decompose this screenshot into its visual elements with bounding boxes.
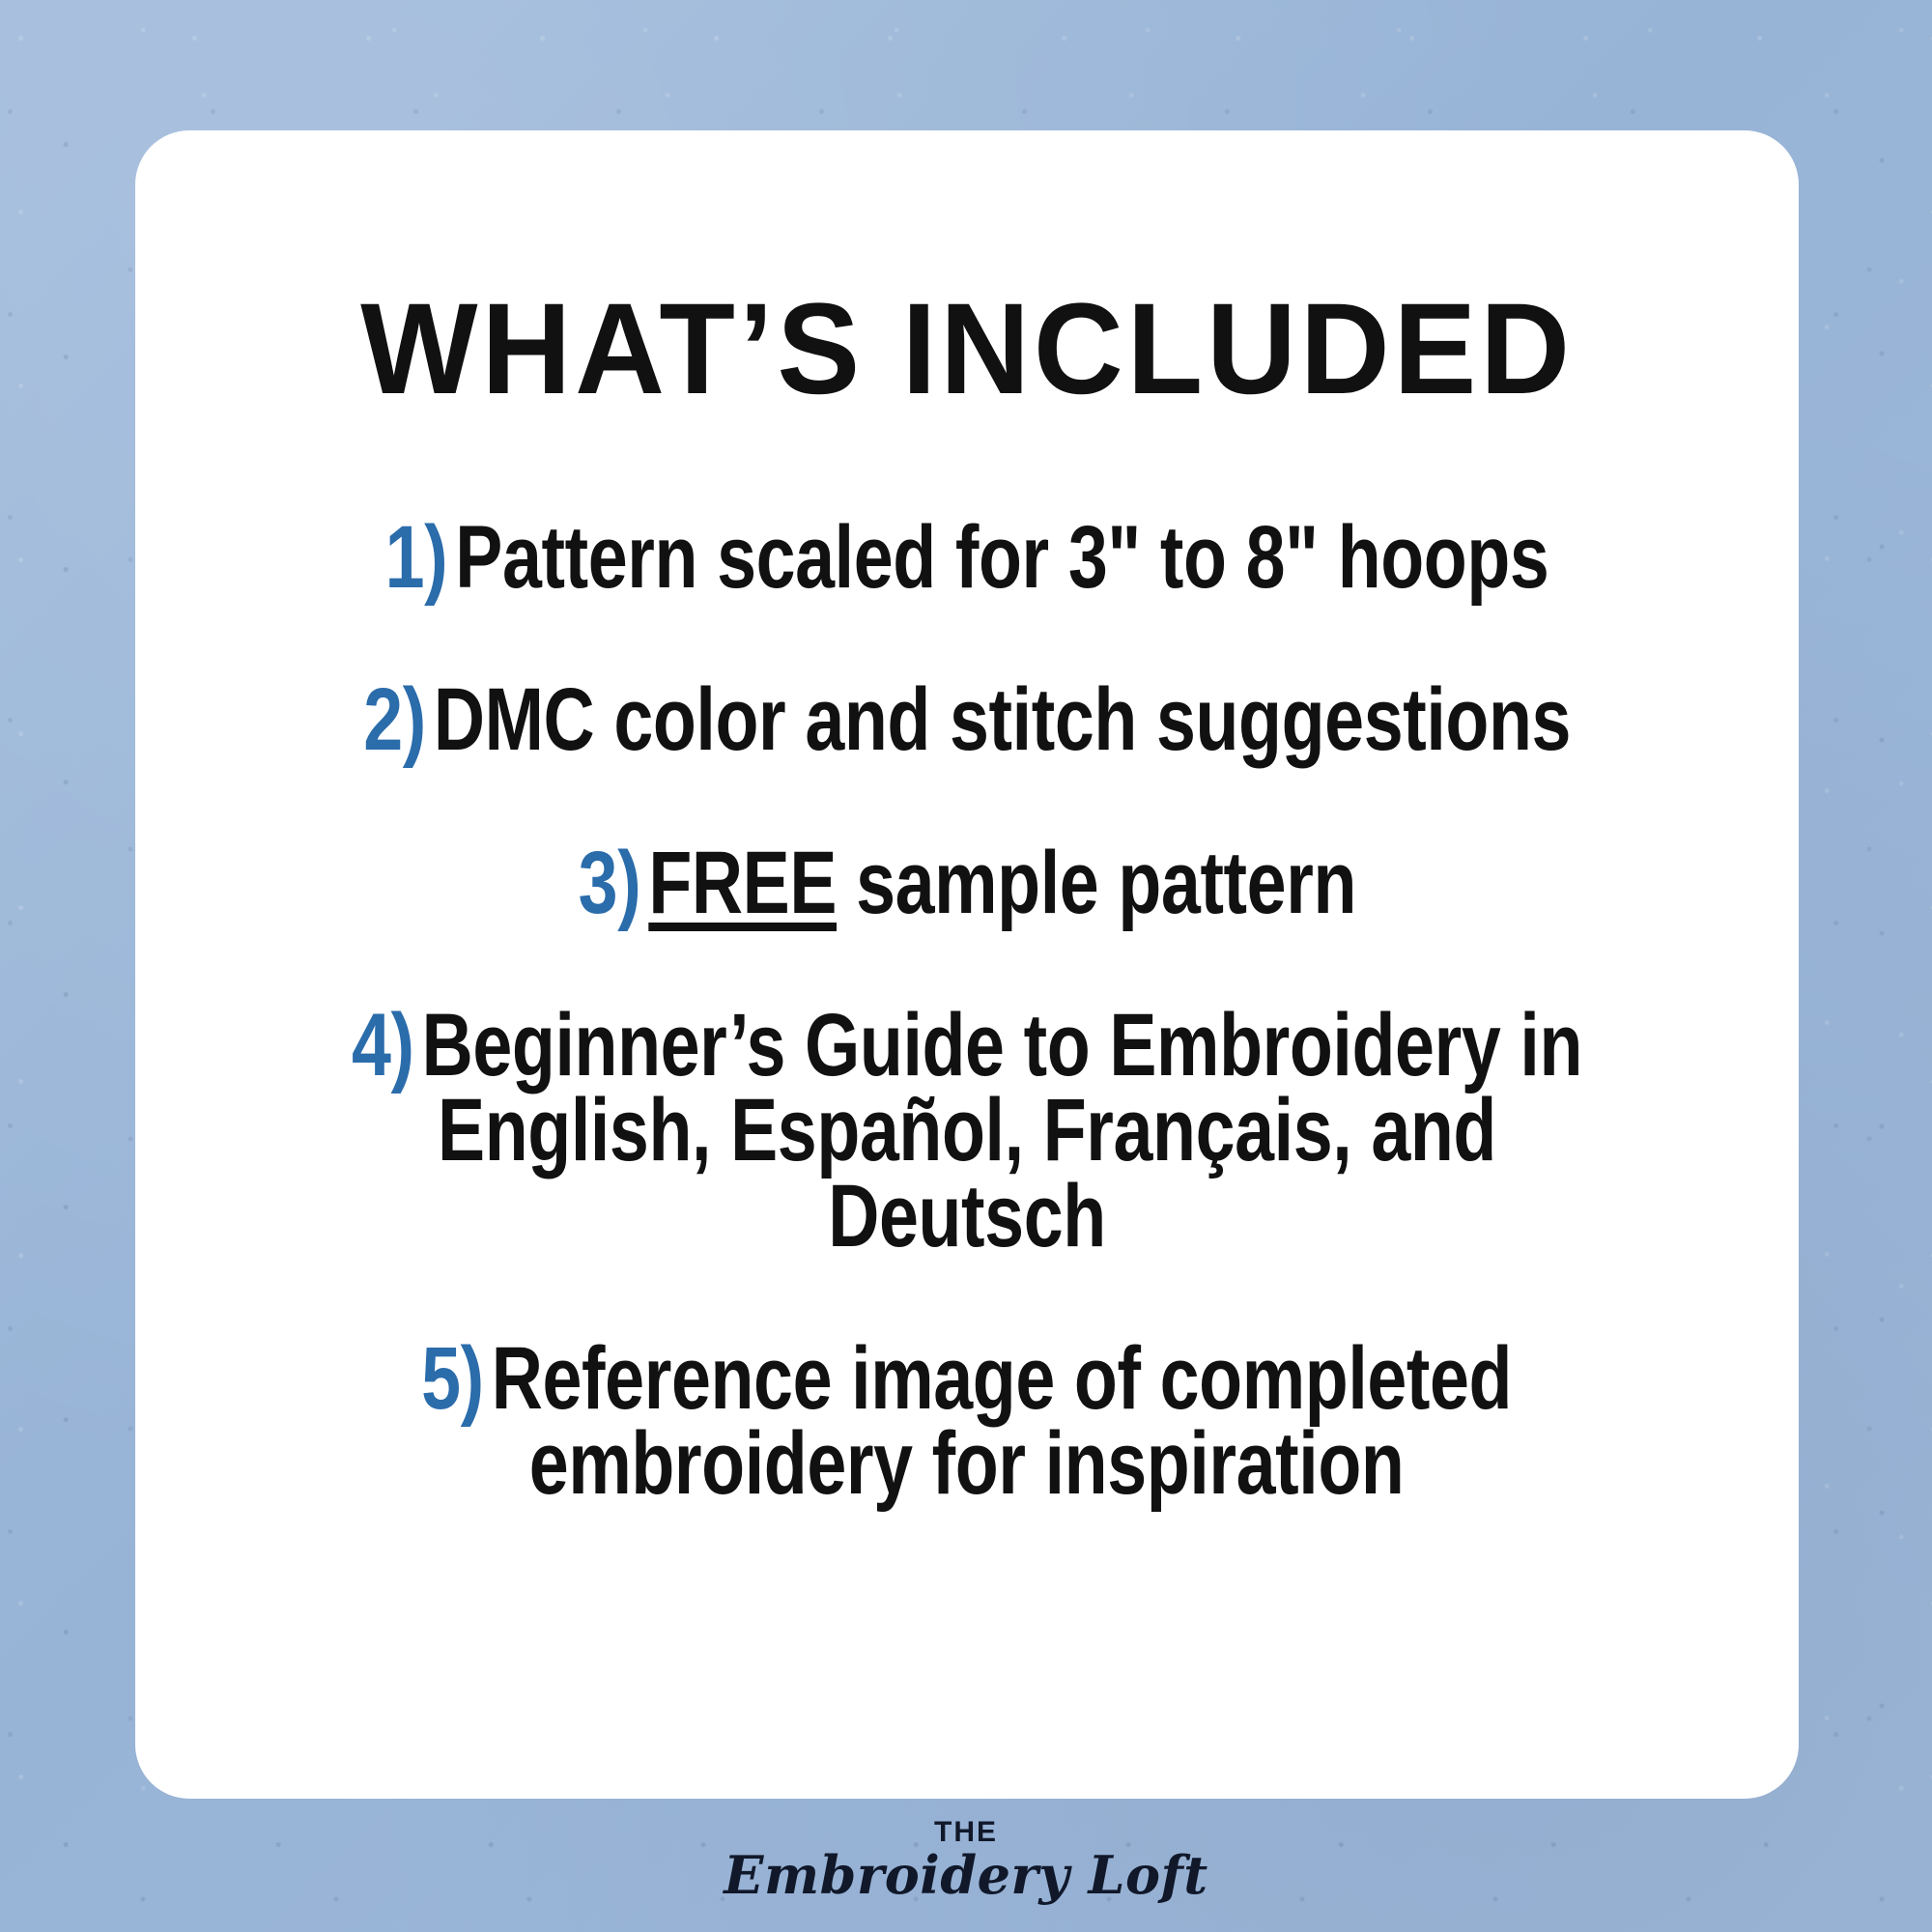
list-item-number: 1) bbox=[385, 508, 448, 607]
list-item: 2)DMC color and stitch suggestions bbox=[363, 677, 1571, 762]
list-item-text-line2: embroidery for inspiration bbox=[422, 1421, 1513, 1506]
list-item-text: Reference image of completed bbox=[492, 1329, 1512, 1428]
list-item-number: 2) bbox=[363, 670, 426, 769]
brand-logo-the: THE bbox=[0, 1818, 1932, 1847]
list-item-text: Pattern scaled for 3" to 8" hoops bbox=[455, 508, 1548, 607]
page-title: WHAT’S INCLUDED bbox=[360, 285, 1574, 414]
list-item-text: Beginner’s Guide to Embroidery in bbox=[422, 996, 1582, 1094]
list-item-text-line2: English, Español, Français, and Deutsch bbox=[341, 1088, 1593, 1259]
list-item-number: 5) bbox=[422, 1329, 485, 1428]
list-item: 5)Reference image of completedembroidery… bbox=[422, 1336, 1513, 1507]
included-list: 1)Pattern scaled for 3" to 8" hoops 2)DM… bbox=[185, 515, 1749, 1584]
list-item-text: sample pattern bbox=[837, 834, 1356, 932]
brand-logo: THE Embroidery Loft bbox=[0, 1818, 1932, 1901]
list-item: 1)Pattern scaled for 3" to 8" hoops bbox=[385, 515, 1549, 600]
free-emphasis-text: FREE bbox=[648, 834, 837, 932]
list-item-text: DMC color and stitch suggestions bbox=[434, 670, 1571, 769]
list-item-number: 3) bbox=[578, 834, 640, 932]
brand-logo-name: Embroidery Loft bbox=[0, 1849, 1932, 1901]
list-item: 3)FREE sample pattern bbox=[578, 840, 1355, 925]
list-item-number: 4) bbox=[352, 996, 414, 1094]
page-background: WHAT’S INCLUDED 1)Pattern scaled for 3" … bbox=[0, 0, 1932, 1932]
list-item: 4)Beginner’s Guide to Embroidery inEngli… bbox=[341, 1003, 1593, 1259]
content-card: WHAT’S INCLUDED 1)Pattern scaled for 3" … bbox=[135, 130, 1799, 1799]
